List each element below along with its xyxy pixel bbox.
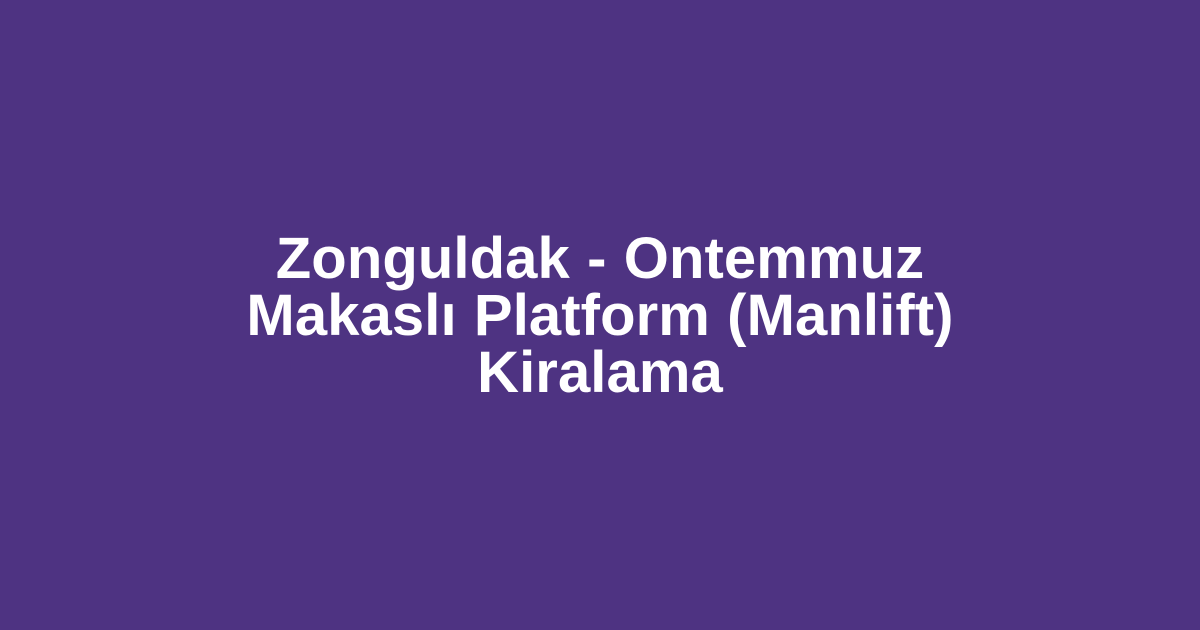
og-card: Zonguldak - Ontemmuz Makaslı Platform (M…	[0, 0, 1200, 630]
page-title: Zonguldak - Ontemmuz Makaslı Platform (M…	[185, 230, 1015, 401]
title-block: Zonguldak - Ontemmuz Makaslı Platform (M…	[0, 230, 1200, 401]
